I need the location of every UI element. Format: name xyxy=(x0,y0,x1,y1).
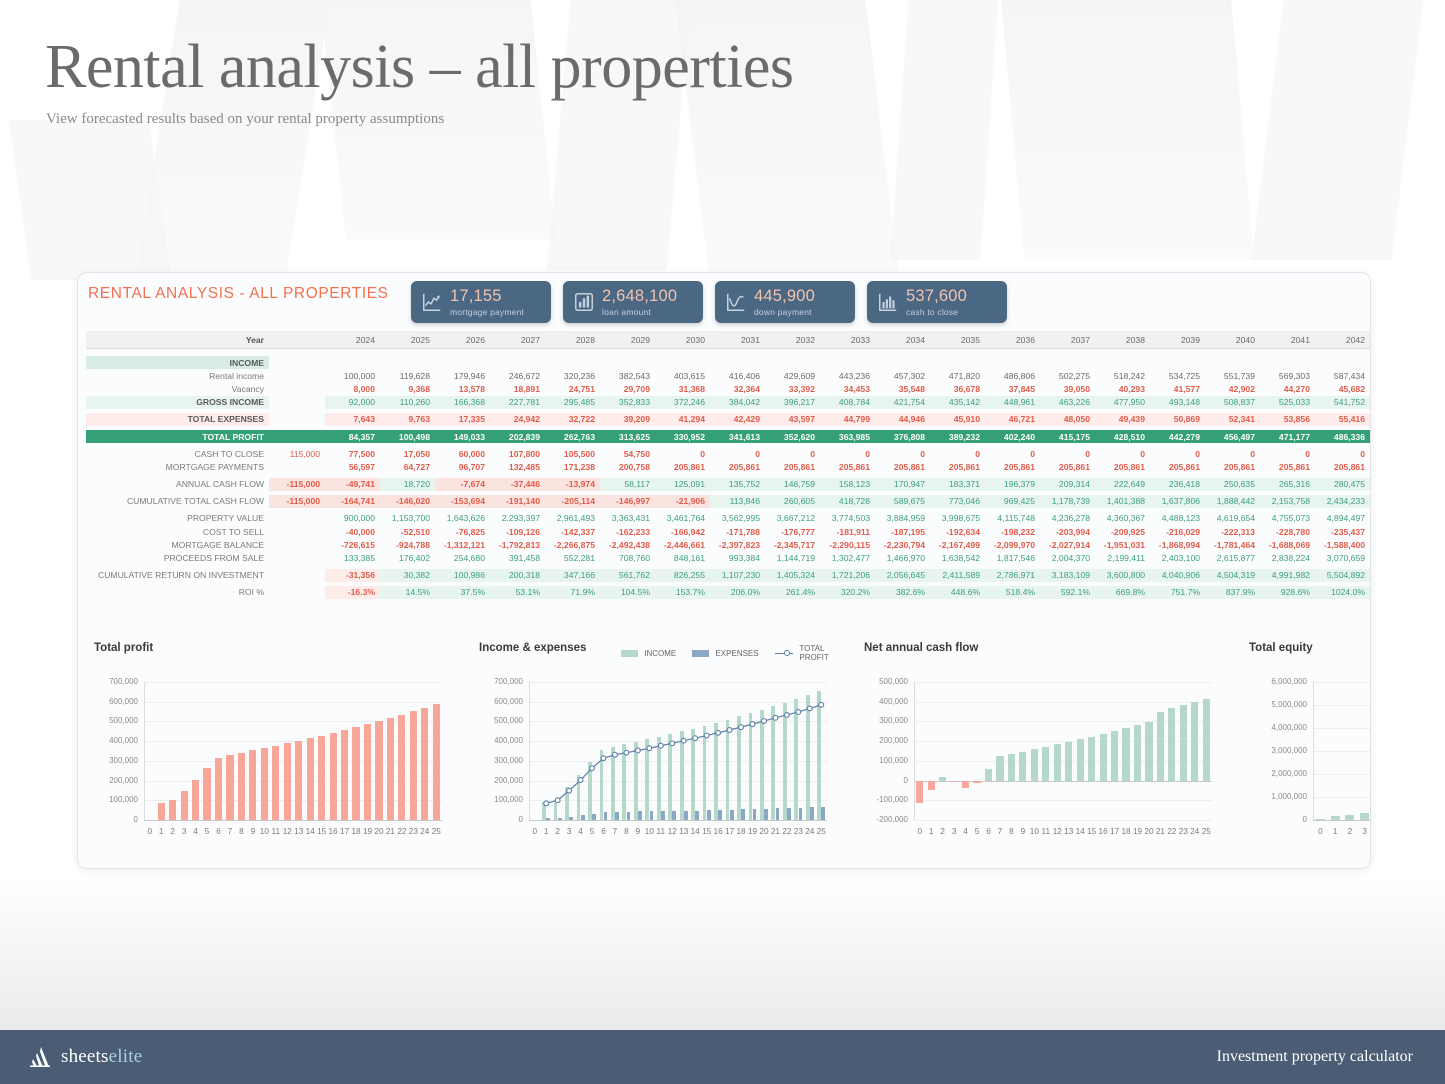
chart-y-tick: 1,000,000 xyxy=(1241,792,1307,801)
table-cell: 415,175 xyxy=(1040,430,1095,443)
table-cell: 1,466,970 xyxy=(875,551,930,564)
kpi-value: 2,648,100 xyxy=(602,288,677,305)
table-cell: 205,861 xyxy=(765,460,820,473)
table-cell: 2,730,361 xyxy=(1370,495,1371,508)
table-cell: 341,613 xyxy=(710,430,765,443)
table-cell: -2,099,970 xyxy=(985,538,1040,551)
table-cell: -76,825 xyxy=(435,525,490,538)
table-cell xyxy=(985,356,1040,369)
table-cell: 320.2% xyxy=(820,586,875,599)
table-cell: 42,902 xyxy=(1205,382,1260,395)
table-cell: 320,236 xyxy=(545,369,600,382)
table-row-label: TOTAL PROFIT xyxy=(86,430,269,443)
kpi-card-mortgage-payment[interactable]: 17,155mortgage payment xyxy=(411,281,551,323)
chart-x-tick: 0 xyxy=(1313,827,1328,836)
table-cell: 3,313,453 xyxy=(1370,551,1371,564)
chart-y-tick: 400,000 xyxy=(86,736,138,745)
table-row-label: MORTGAGE BALANCE xyxy=(86,538,269,551)
table-cell: 32,722 xyxy=(545,413,600,426)
table-cell: 493,148 xyxy=(1150,396,1205,409)
table-header-year: 2025 xyxy=(380,331,435,349)
chart-bar xyxy=(1031,749,1038,780)
table-cell: 389,232 xyxy=(930,430,985,443)
chart-x-tick: 17 xyxy=(1109,827,1120,836)
table-cell: 2,786,971 xyxy=(985,569,1040,582)
table-cell: 18,720 xyxy=(380,478,435,491)
kpi-label: loan amount xyxy=(602,308,677,317)
table-cell: 363,985 xyxy=(820,430,875,443)
table-cell: 3,461,764 xyxy=(655,512,710,525)
table-header-year: 2028 xyxy=(545,331,600,349)
chart-bar xyxy=(341,730,348,820)
table-cell: 39,209 xyxy=(600,413,655,426)
table-cell-y0: -115,000 xyxy=(269,495,325,508)
table-cell: 205,861 xyxy=(1095,460,1150,473)
table-cell: 92,000 xyxy=(325,396,380,409)
table-cell xyxy=(1095,356,1150,369)
table-cell: 55,416 xyxy=(1315,413,1370,426)
table-cell: 518.4% xyxy=(985,586,1040,599)
chart-bar xyxy=(1203,699,1210,781)
table-cell-y0 xyxy=(269,538,325,551)
chart-x-tick: 11 xyxy=(1040,827,1051,836)
table-cell: 313,625 xyxy=(600,430,655,443)
charts-row: Total profit0100,000200,000300,000400,00… xyxy=(78,642,1370,864)
chart-bar xyxy=(1019,752,1026,781)
table-row-label: MORTGAGE PAYMENTS xyxy=(86,460,269,473)
chart-y-tick: 0 xyxy=(1241,815,1307,824)
table-cell: -1,482,301 xyxy=(1370,538,1371,551)
chart-bar xyxy=(387,718,394,820)
table-cell: -2,492,438 xyxy=(600,538,655,551)
chart-plot: -200,000-100,0000100,000200,000300,00040… xyxy=(856,660,1236,846)
table-cell: 1,888,442 xyxy=(1205,495,1260,508)
chart-net-annual-cash-flow: Net annual cash flow-200,000-100,0000100… xyxy=(856,642,1236,852)
chart-x-tick: 5 xyxy=(586,827,597,836)
table-cell: 1,643,626 xyxy=(435,512,490,525)
panel-title: RENTAL ANALYSIS - ALL PROPERTIES xyxy=(88,285,389,303)
table-cell-y0 xyxy=(269,586,325,599)
table-row: TOTAL PROFIT84,357100,498149,033202,8392… xyxy=(86,430,1371,443)
table-cell: 4,115,748 xyxy=(985,512,1040,525)
table-cell: -49,741 xyxy=(325,478,380,491)
table-cell: 18,891 xyxy=(490,382,545,395)
table-cell: 606,151 xyxy=(1370,369,1371,382)
table-header-year: 2024 xyxy=(325,331,380,349)
chart-bar xyxy=(1157,712,1164,781)
chart-y-tick: 300,000 xyxy=(86,756,138,765)
chart-y-axis xyxy=(144,682,145,820)
table-cell: -192,634 xyxy=(930,525,985,538)
table-cell: 265,316 xyxy=(1260,478,1315,491)
table-cell: -209,925 xyxy=(1095,525,1150,538)
table-cell: 205,861 xyxy=(1040,460,1095,473)
table-cell: 44,946 xyxy=(875,413,930,426)
table-header-year: 2043 xyxy=(1370,331,1371,349)
table-cell: 589,675 xyxy=(875,495,930,508)
chart-gridline xyxy=(914,682,1212,683)
chart-line-series xyxy=(471,660,837,830)
table-cell xyxy=(875,356,930,369)
table-cell: -1,951,031 xyxy=(1095,538,1150,551)
table-cell: 7,643 xyxy=(325,413,380,426)
table-cell: 448,961 xyxy=(985,396,1040,409)
table-row-label: COST TO SELL xyxy=(86,525,269,538)
table-cell: 429,609 xyxy=(765,369,820,382)
table-cell: 0 xyxy=(765,447,820,460)
table-cell: 352,833 xyxy=(600,396,655,409)
chart-total-profit: Total profit0100,000200,000300,000400,00… xyxy=(86,642,466,852)
table-cell: -228,780 xyxy=(1260,525,1315,538)
chart-x-tick: 12 xyxy=(282,827,293,836)
table-cell: 4,040,906 xyxy=(1150,569,1205,582)
chart-x-tick: 18 xyxy=(350,827,361,836)
table-cell: 56,597 xyxy=(325,460,380,473)
table-cell: 40,293 xyxy=(1095,382,1150,395)
chart-bar xyxy=(996,756,1003,781)
chart-y-tick: 600,000 xyxy=(86,697,138,706)
table-cell: 260,605 xyxy=(765,495,820,508)
table-cell: -242,290 xyxy=(1370,525,1371,538)
table-cell: 2,411,589 xyxy=(930,569,985,582)
table-cell: 176,402 xyxy=(380,551,435,564)
chart-gridline xyxy=(1313,774,1371,775)
chart-x-tick: 6 xyxy=(598,827,609,836)
table-cell: 50,869 xyxy=(1150,413,1205,426)
table-cell: 2,004,370 xyxy=(1040,551,1095,564)
table-cell: 39,050 xyxy=(1040,382,1095,395)
chart-bar xyxy=(1345,815,1354,820)
chart-bar xyxy=(261,748,268,820)
chart-x-tick: 3 xyxy=(948,827,959,836)
chart-bar xyxy=(364,724,371,820)
chart-bar xyxy=(307,738,314,820)
chart-gridline xyxy=(914,800,1212,801)
chart-title: Total profit xyxy=(94,642,466,654)
table-cell: 125,091 xyxy=(655,478,710,491)
table-row: ANNUAL CASH FLOW-115,000-49,74118,720-7,… xyxy=(86,478,1371,491)
table-cell: 418,728 xyxy=(820,495,875,508)
table-cell xyxy=(1315,356,1370,369)
chart-y-tick: -200,000 xyxy=(856,815,908,824)
table-cell xyxy=(1040,356,1095,369)
footer-right-text: Investment property calculator xyxy=(1217,1048,1413,1066)
table-cell: 57,021 xyxy=(1370,413,1371,426)
table-cell: 928.6% xyxy=(1260,586,1315,599)
chart-x-tick: 0 xyxy=(914,827,925,836)
chart-x-tick: 13 xyxy=(678,827,689,836)
chart-y-tick: 5,000,000 xyxy=(1241,700,1307,709)
table-cell: 24,942 xyxy=(490,413,545,426)
chart-x-tick: 10 xyxy=(644,827,655,836)
table-cell: -146,997 xyxy=(600,495,655,508)
table-cell: 708,760 xyxy=(600,551,655,564)
chart-x-tick: 2 xyxy=(167,827,178,836)
table-cell: 1024.0% xyxy=(1315,586,1370,599)
financial-table: Year202420252026202720282029203020312032… xyxy=(86,331,1371,599)
table-cell: 471,177 xyxy=(1260,430,1315,443)
table-cell-y0 xyxy=(269,551,325,564)
kpi-card-cash-to-close[interactable]: 537,600cash to close xyxy=(867,281,1007,323)
table-cell: 502,275 xyxy=(1040,369,1095,382)
table-cell: -1,781,464 xyxy=(1205,538,1260,551)
table-cell: 9,763 xyxy=(380,413,435,426)
chart-x-tick: 5 xyxy=(201,827,212,836)
chart-x-tick: 4 xyxy=(190,827,201,836)
table-header-year: 2027 xyxy=(490,331,545,349)
table-cell-y0 xyxy=(269,369,325,382)
chart-x-tick: 7 xyxy=(224,827,235,836)
table-cell: 1,302,477 xyxy=(820,551,875,564)
chart-gridline xyxy=(1313,751,1371,752)
table-cell-y0 xyxy=(269,382,325,395)
table-cell: 36,678 xyxy=(930,382,985,395)
table-cell: -191,140 xyxy=(490,495,545,508)
chart-x-tick: 25 xyxy=(1201,827,1212,836)
chart-bar xyxy=(158,803,165,820)
chart-x-tick: 7 xyxy=(994,827,1005,836)
table-cell: 58,117 xyxy=(600,478,655,491)
chart-gridline xyxy=(1313,728,1371,729)
chart-x-tick: 3 xyxy=(1357,827,1371,836)
table-cell xyxy=(820,356,875,369)
chart-y-tick: -100,000 xyxy=(856,795,908,804)
chart-gridline xyxy=(144,702,442,703)
table-cell: 0 xyxy=(1370,447,1371,460)
chart-x-tick: 14 xyxy=(689,827,700,836)
chart-x-tick: 21 xyxy=(1155,827,1166,836)
table-cell: 4,619,654 xyxy=(1205,512,1260,525)
table-cell: 200,758 xyxy=(600,460,655,473)
chart-y-tick: 100,000 xyxy=(856,756,908,765)
chart-bar xyxy=(1065,742,1072,781)
table-cell: 100,498 xyxy=(380,430,435,443)
table-cell: 3,998,675 xyxy=(930,512,985,525)
table-cell: 569,303 xyxy=(1260,369,1315,382)
table-cell xyxy=(710,356,765,369)
table-cell: 501,990 xyxy=(1370,430,1371,443)
table-cell: -37,446 xyxy=(490,478,545,491)
table-cell: -166,942 xyxy=(655,525,710,538)
table-cell: 37.5% xyxy=(435,586,490,599)
chart-gridline xyxy=(144,721,442,722)
table-cell: 508,837 xyxy=(1205,396,1260,409)
table-cell: 107,800 xyxy=(490,447,545,460)
table-cell: 30,382 xyxy=(380,569,435,582)
table-cell xyxy=(435,356,490,369)
table-cell: 261.4% xyxy=(765,586,820,599)
table-cell: 0 xyxy=(1040,447,1095,460)
table-header-year: 2033 xyxy=(820,331,875,349)
table-cell xyxy=(1260,356,1315,369)
table-cell: -1,688,069 xyxy=(1260,538,1315,551)
table-cell: -176,777 xyxy=(765,525,820,538)
table-cell-y0 xyxy=(269,430,325,443)
chart-x-tick: 9 xyxy=(247,827,258,836)
table-cell xyxy=(490,356,545,369)
table-cell: 48,050 xyxy=(1040,413,1095,426)
table-cell: 4,236,278 xyxy=(1040,512,1095,525)
table-cell: 3,600,800 xyxy=(1095,569,1150,582)
chart-x-tick: 3 xyxy=(178,827,189,836)
chart-bar xyxy=(249,750,256,820)
table-cell: 1,153,700 xyxy=(380,512,435,525)
table-cell: 280,475 xyxy=(1315,478,1370,491)
table-cell: 64,727 xyxy=(380,460,435,473)
table-cell: 96,707 xyxy=(435,460,490,473)
table-cell: 205,861 xyxy=(1205,460,1260,473)
table-header-year: 2039 xyxy=(1150,331,1205,349)
legend-label: EXPENSES xyxy=(715,649,758,658)
chart-x-tick: 1 xyxy=(1328,827,1343,836)
table-row: COST TO SELL-40,000-52,510-76,825-109,12… xyxy=(86,525,1371,538)
table-header-blank xyxy=(269,331,325,349)
table-cell: 4,488,123 xyxy=(1150,512,1205,525)
table-cell: 1,144,719 xyxy=(765,551,820,564)
table-cell: 2,403,100 xyxy=(1150,551,1205,564)
table-cell-y0 xyxy=(269,525,325,538)
table-cell: 35,548 xyxy=(875,382,930,395)
table-cell: 196,379 xyxy=(985,478,1040,491)
table-cell: 71.9% xyxy=(545,586,600,599)
chart-bar xyxy=(226,755,233,820)
table-cell: 52,341 xyxy=(1205,413,1260,426)
table-row-label: Rental income xyxy=(86,369,269,382)
kpi-value: 445,900 xyxy=(754,288,815,305)
kpi-card-down-payment[interactable]: 445,900down payment xyxy=(715,281,855,323)
table-cell: -1,312,121 xyxy=(435,538,490,551)
chart-gridline xyxy=(144,800,442,801)
table-cell: 3,774,503 xyxy=(820,512,875,525)
table-cell: 205,861 xyxy=(930,460,985,473)
table-cell: 49,439 xyxy=(1095,413,1150,426)
chart-gridline xyxy=(914,741,1212,742)
table-cell: 0 xyxy=(1205,447,1260,460)
chart-bar xyxy=(192,780,199,820)
chart-bar xyxy=(928,781,935,791)
chart-y-tick: 3,000,000 xyxy=(1241,746,1307,755)
table-cell: 6,043,814 xyxy=(1370,569,1371,582)
brand-logo: sheetselite xyxy=(28,1044,142,1070)
table-cell: 1,638,542 xyxy=(930,551,985,564)
financial-table-wrap: Year202420252026202720282029203020312032… xyxy=(86,331,1364,599)
chart-bar xyxy=(330,733,337,820)
chart-x-tick: 8 xyxy=(236,827,247,836)
brand-name: sheetselite xyxy=(61,1046,142,1068)
table-cell-y0 xyxy=(269,512,325,525)
chart-bar xyxy=(985,769,992,780)
table-cell: 171,238 xyxy=(545,460,600,473)
table-cell-y0 xyxy=(269,460,325,473)
table-cell: 45,682 xyxy=(1315,382,1370,395)
kpi-card-loan-amount[interactable]: 2,648,100loan amount xyxy=(563,281,703,323)
table-cell: 2,838,224 xyxy=(1260,551,1315,564)
table-cell: -203,994 xyxy=(1040,525,1095,538)
table-cell: 0 xyxy=(820,447,875,460)
table-cell: -1,588,400 xyxy=(1315,538,1370,551)
table-cell: 77,500 xyxy=(325,447,380,460)
table-cell: 47,140 xyxy=(1370,382,1371,395)
table-cell: 0 xyxy=(1260,447,1315,460)
brand-name-second: elite xyxy=(109,1046,143,1067)
table-header-year: 2031 xyxy=(710,331,765,349)
table-cell: 254,680 xyxy=(435,551,490,564)
table-row: CASH TO CLOSE115,00077,50017,05060,00010… xyxy=(86,447,1371,460)
chart-gridline xyxy=(1313,682,1371,683)
table-cell: 347,166 xyxy=(545,569,600,582)
kpi-label: cash to close xyxy=(906,308,967,317)
table-cell: 14.5% xyxy=(380,586,435,599)
chart-bar xyxy=(1145,722,1152,780)
table-header-row: Year202420252026202720282029203020312032… xyxy=(86,331,1371,349)
chart-bar xyxy=(1331,816,1340,820)
table-cell: 60,000 xyxy=(435,447,490,460)
legend-label: INCOME xyxy=(644,649,676,658)
table-cell: 227,781 xyxy=(490,396,545,409)
chart-gridline xyxy=(914,702,1212,703)
table-cell: 0 xyxy=(930,447,985,460)
chart-x-tick: 12 xyxy=(667,827,678,836)
table-cell: 44,270 xyxy=(1260,382,1315,395)
table-cell: 396,217 xyxy=(765,396,820,409)
chart-bar xyxy=(973,781,980,784)
table-cell: -146,020 xyxy=(380,495,435,508)
table-cell: 408,784 xyxy=(820,396,875,409)
kpi-label: down payment xyxy=(754,308,815,317)
table-cell: 54,750 xyxy=(600,447,655,460)
legend-swatch-line xyxy=(775,653,794,654)
area-chart-icon xyxy=(725,291,747,313)
table-cell: 518,242 xyxy=(1095,369,1150,382)
table-cell: -142,337 xyxy=(545,525,600,538)
table-cell: 1,817,546 xyxy=(985,551,1040,564)
chart-title: Net annual cash flow xyxy=(864,642,1236,654)
kpi-value: 17,155 xyxy=(450,288,524,305)
table-header-year: 2026 xyxy=(435,331,490,349)
table-cell: 24,751 xyxy=(545,382,600,395)
chart-bar xyxy=(951,781,958,783)
table-cell: -7,674 xyxy=(435,478,490,491)
table-cell: 158,123 xyxy=(820,478,875,491)
table-cell: 170,947 xyxy=(875,478,930,491)
chart-zero-axis xyxy=(914,781,1212,782)
table-cell: 250,635 xyxy=(1205,478,1260,491)
chart-x-tick: 0 xyxy=(529,827,540,836)
table-cell xyxy=(325,356,380,369)
chart-bar xyxy=(1316,819,1325,820)
chart-gridline xyxy=(144,741,442,742)
chart-bar xyxy=(1111,731,1118,780)
table-cell: 205,861 xyxy=(710,460,765,473)
chart-bar xyxy=(916,781,923,804)
table-cell: 295,485 xyxy=(545,396,600,409)
table-cell: -2,345,717 xyxy=(765,538,820,551)
table-cell: -109,126 xyxy=(490,525,545,538)
chart-x-tick: 0 xyxy=(144,827,155,836)
table-cell: 2,153,758 xyxy=(1260,495,1315,508)
chart-bar xyxy=(939,777,946,781)
table-cell: 1,637,806 xyxy=(1150,495,1205,508)
table-cell: 4,360,367 xyxy=(1095,512,1150,525)
table-cell xyxy=(1205,356,1260,369)
table-cell: 146,759 xyxy=(765,478,820,491)
chart-x-tick: 2 xyxy=(552,827,563,836)
table-cell: 773,046 xyxy=(930,495,985,508)
table-cell: 236,418 xyxy=(1150,478,1205,491)
chart-x-tick: 2 xyxy=(937,827,948,836)
table-cell-y0: -115,000 xyxy=(269,478,325,491)
table-cell: 53.1% xyxy=(490,586,545,599)
